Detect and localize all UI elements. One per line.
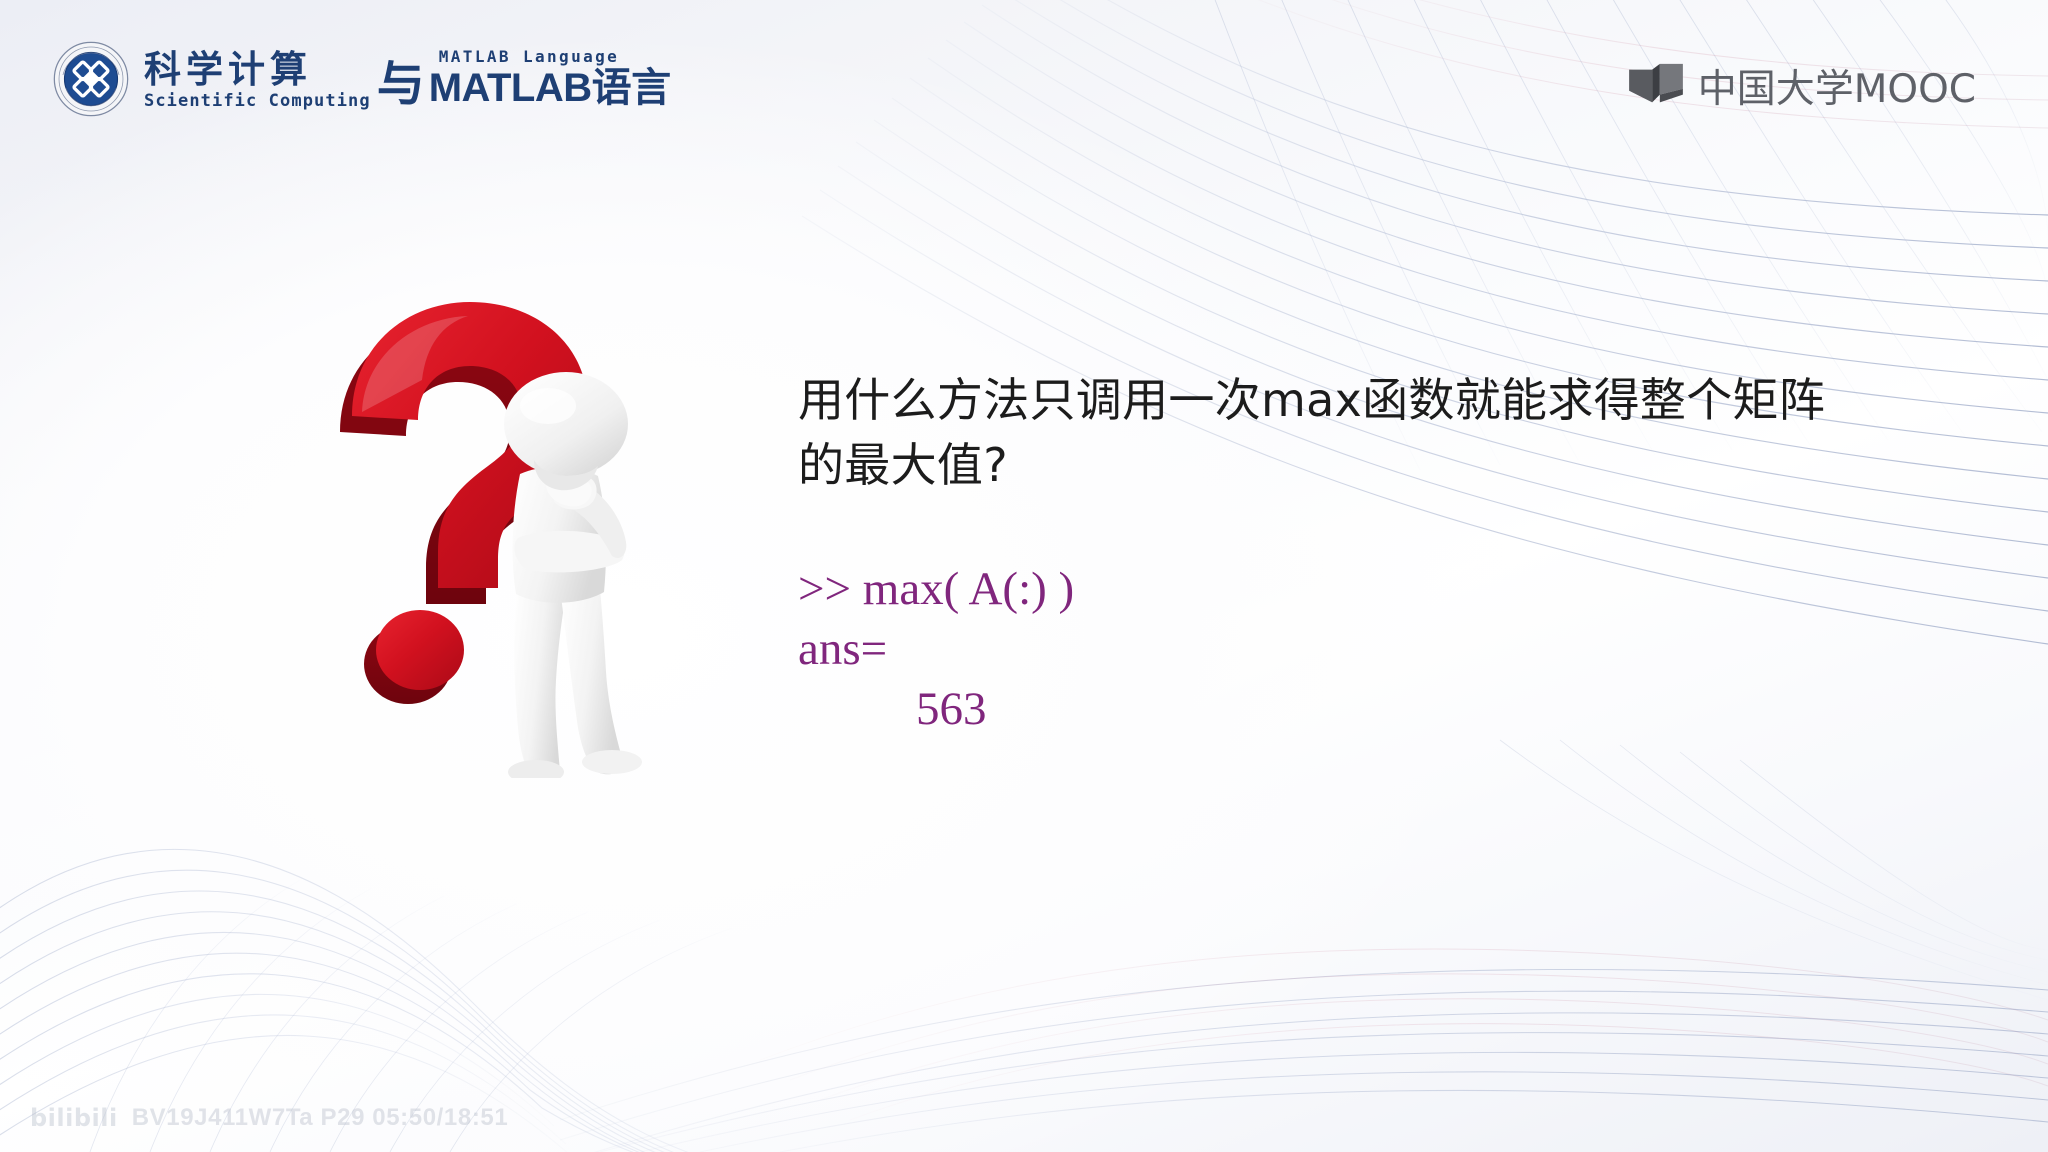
course-logo-conjunction: 与 [377,62,425,108]
open-book-icon [1627,62,1685,110]
bilibili-watermark: bilibili BV19J411W7Ta P29 05:50/18:51 [30,1104,508,1132]
thinking-person-figure [504,372,642,778]
code-prompt-line: >> max( A(:) ) [798,559,1858,619]
university-seal-icon [52,40,130,118]
watermark-video-info: BV19J411W7Ta P29 05:50/18:51 [132,1104,509,1132]
course-title-cn: 科学计算 [144,51,371,88]
course-title-en: Scientific Computing [144,93,371,110]
question-text: 用什么方法只调用一次max函数就能求得整个矩阵的最大值? [798,368,1838,499]
slide-content: 用什么方法只调用一次max函数就能求得整个矩阵的最大值? >> max( A(:… [798,368,1858,739]
platform-logo: 中国大学MOOC [1627,58,1976,114]
slide-canvas: 科学计算 Scientific Computing 与 MATLAB Langu… [0,0,2048,1152]
bilibili-logo: bilibili [30,1104,118,1132]
matlab-title-cn: MATLAB语言 [429,68,671,108]
matlab-language-label: MATLAB Language [439,49,671,65]
platform-logo-label: 中国大学MOOC [1698,58,1976,114]
course-logo: 科学计算 Scientific Computing 与 MATLAB Langu… [52,40,671,118]
header-bar: 科学计算 Scientific Computing 与 MATLAB Langu… [0,0,2048,150]
code-answer-value: 563 [798,679,1858,739]
thinking-person-question-mark-illustration [322,288,682,778]
matlab-code-block: >> max( A(:) ) ans= 563 [798,559,1858,739]
course-logo-text: 科学计算 Scientific Computing 与 MATLAB Langu… [144,49,671,110]
code-answer-label: ans= [798,619,1858,679]
